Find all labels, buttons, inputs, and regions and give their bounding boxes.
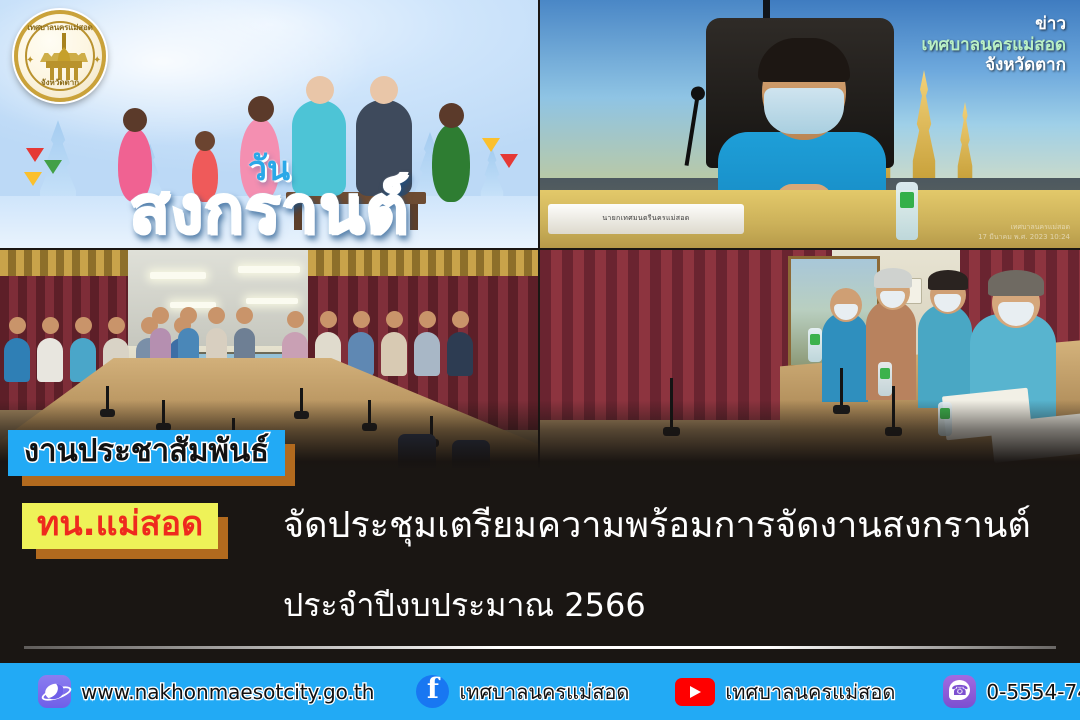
- ceiling-light: [170, 302, 216, 308]
- watermark-line2: 17 มีนาคม พ.ศ. 2023 10:24: [978, 233, 1070, 242]
- songkran-title: วัน สงกรานต์: [0, 153, 538, 242]
- ceiling-light: [238, 266, 300, 273]
- watermark-line1: เทศบาลนครแม่สอด: [978, 223, 1070, 232]
- attendee: [4, 338, 30, 382]
- water-bottle: [878, 362, 892, 396]
- facebook-label: เทศบาลนครแม่สอด: [459, 676, 629, 708]
- pagoda-base: [46, 61, 82, 68]
- stupa-icon: [904, 70, 944, 178]
- divider-line: [24, 646, 1056, 649]
- spire-icon: [62, 33, 66, 49]
- tag-public-relations-label: งานประชาสัมพันธ์: [24, 434, 269, 469]
- attendee: [918, 304, 972, 408]
- tag-public-relations: งานประชาสัมพันธ์: [8, 430, 285, 476]
- headline-main: จัดประชุมเตรียมความพร้อมการจัดงานสงกรานต…: [283, 506, 1031, 546]
- footer-item-website[interactable]: www.nakhonmaesotcity.go.th: [38, 675, 374, 708]
- photo-speaker: ข่าว เทศบาลนครแม่สอด จังหวัดตาก นายกเทศม…: [540, 0, 1080, 248]
- pennant-icon: [482, 138, 500, 152]
- water-bottle: [896, 182, 918, 240]
- news-overlay-line1: ข่าว: [922, 14, 1066, 35]
- viber-icon: [943, 675, 976, 708]
- municipal-logo: เทศบาลนครแม่สอด ✦ ✦ จังหวัดตาก: [14, 10, 106, 102]
- attendee: [381, 332, 407, 376]
- attendee-hair: [874, 268, 912, 288]
- attendee: [447, 332, 473, 376]
- nameplate: นายกเทศมนตรีนครแม่สอด: [548, 204, 744, 234]
- star-icon: ✦: [26, 56, 35, 65]
- tag-municipality-label: ทน.แม่สอด: [37, 506, 203, 543]
- footer-item-youtube[interactable]: เทศบาลนครแม่สอด: [675, 676, 895, 708]
- ceiling-light: [150, 272, 206, 279]
- news-poster: วัน สงกรานต์ ข่าว เทศบาลนครแม่สอด จังหวั…: [0, 0, 1080, 720]
- headline-panel: งานประชาสัมพันธ์ ทน.แม่สอด จัดประชุมเตรี…: [0, 410, 1080, 663]
- facebook-icon: [416, 675, 449, 708]
- phone-label: 0-5554-7449: [986, 680, 1080, 704]
- contact-footer: www.nakhonmaesotcity.go.th เทศบาลนครแม่ส…: [0, 663, 1080, 720]
- youtube-icon: [675, 678, 715, 706]
- youtube-label: เทศบาลนครแม่สอด: [725, 676, 895, 708]
- tag-municipality: ทน.แม่สอด: [22, 503, 218, 549]
- footer-item-phone[interactable]: 0-5554-7449: [943, 675, 1080, 708]
- songkran-title-line2: สงกรานต์: [0, 179, 538, 242]
- stupa-icon: [952, 102, 978, 178]
- footer-item-facebook[interactable]: เทศบาลนครแม่สอด: [416, 675, 629, 708]
- attendee-hair: [988, 270, 1044, 296]
- face-mask-icon: [764, 88, 844, 134]
- photo-watermark: เทศบาลนครแม่สอด 17 มีนาคม พ.ศ. 2023 10:2…: [978, 223, 1070, 242]
- website-label: www.nakhonmaesotcity.go.th: [81, 680, 374, 704]
- globe-icon: [38, 675, 71, 708]
- attendee: [37, 338, 63, 382]
- news-overlay: ข่าว เทศบาลนครแม่สอด จังหวัดตาก: [922, 14, 1066, 76]
- news-overlay-line3: จังหวัดตาก: [922, 55, 1066, 76]
- headline-sub: ประจำปีงบประมาณ 2566: [283, 588, 646, 624]
- photo-collage: วัน สงกรานต์ ข่าว เทศบาลนครแม่สอด จังหวั…: [0, 0, 1080, 470]
- star-icon: ✦: [93, 56, 102, 65]
- attendee: [822, 312, 868, 402]
- news-overlay-line2: เทศบาลนครแม่สอด: [922, 35, 1066, 56]
- speaker-hair: [758, 38, 850, 82]
- curtain-pelmet: [308, 250, 538, 276]
- attendee-hair: [928, 270, 968, 290]
- curtain-pelmet: [0, 250, 128, 276]
- nameplate-text: นายกเทศมนตรีนครแม่สอด: [548, 213, 744, 224]
- logo-top-text: เทศบาลนครแม่สอด: [18, 21, 102, 34]
- logo-bottom-text: จังหวัดตาก: [18, 76, 102, 89]
- attendee: [414, 332, 440, 376]
- water-bottle: [808, 328, 822, 362]
- ceiling-light: [246, 298, 298, 304]
